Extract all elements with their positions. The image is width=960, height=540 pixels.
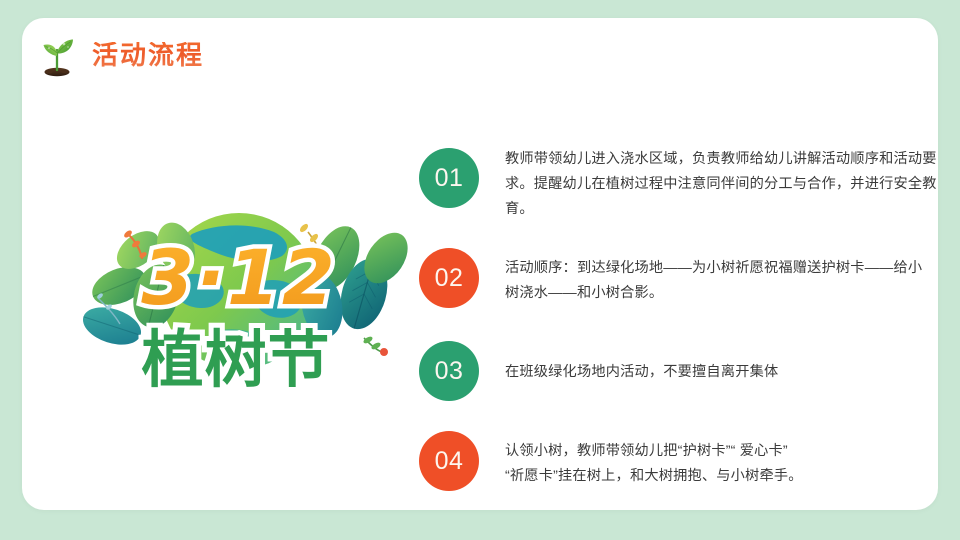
step-text-03: 在班级绿化场地内活动，不要擅自离开集体 (505, 360, 935, 385)
arbor-day-illustration: 3·12 植树节 植树节 (64, 186, 414, 416)
step-text-04: 认领小树，教师带领幼儿把“护树卡”“ 爱心卡” “祈愿卡”挂在树上，和大树拥抱、… (505, 439, 935, 489)
svg-text:3·12: 3·12 (141, 233, 337, 322)
step-badge-02: 02 (419, 248, 479, 308)
step-item: 02 活动顺序：到达绿化场地——为小树祈愿祝福赠送护树卡——给小树浇水——和小树… (419, 248, 935, 308)
slide-header: 活动流程 (34, 32, 204, 78)
step-item: 01 教师带领幼儿进入浇水区域，负责教师给幼儿讲解活动顺序和活动要求。提醒幼儿在… (419, 148, 957, 222)
step-text-01: 教师带领幼儿进入浇水区域，负责教师给幼儿讲解活动顺序和活动要求。提醒幼儿在植树过… (505, 147, 957, 222)
sprout-icon (34, 32, 80, 78)
slide-card: 活动流程 (22, 18, 938, 510)
step-text-02: 活动顺序：到达绿化场地——为小树祈愿祝福赠送护树卡——给小树浇水——和小树合影。 (505, 256, 935, 306)
step-badge-03: 03 (419, 341, 479, 401)
step-item: 04 认领小树，教师带领幼儿把“护树卡”“ 爱心卡” “祈愿卡”挂在树上，和大树… (419, 431, 935, 491)
step-badge-04: 04 (419, 431, 479, 491)
illustration-date-text: 3·12 (141, 233, 337, 322)
step-item: 03 在班级绿化场地内活动，不要擅自离开集体 (419, 341, 935, 401)
page-title: 活动流程 (92, 42, 204, 68)
step-badge-01: 01 (419, 148, 479, 208)
svg-text:植树节: 植树节 (141, 323, 330, 396)
illustration-festival-text: 植树节 植树节 (141, 323, 330, 396)
